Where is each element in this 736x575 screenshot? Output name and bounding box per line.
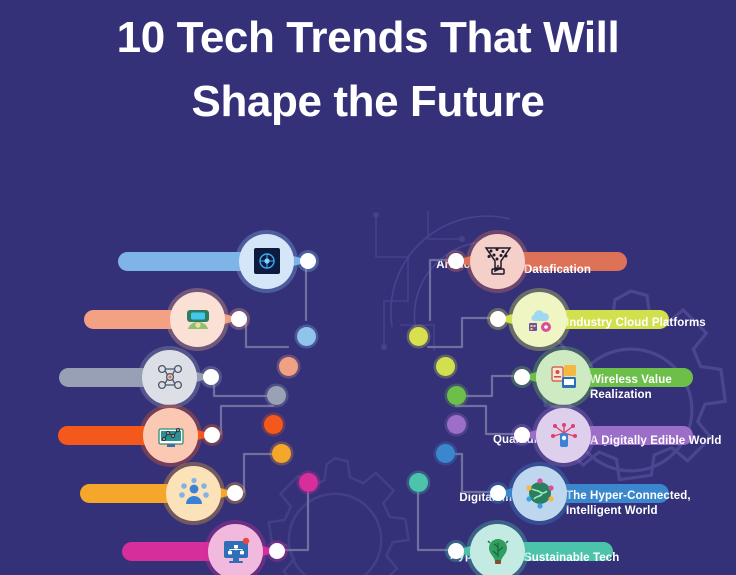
- trend-icon-disc[interactable]: [208, 524, 263, 575]
- trend-knob: [204, 427, 220, 443]
- trend-row-left-3[interactable]: [59, 348, 219, 406]
- trend-icon-disc[interactable]: [142, 350, 197, 405]
- trend-icon-disc[interactable]: [470, 234, 525, 289]
- cloud-platform-icon: [524, 303, 556, 335]
- trend-knob: [490, 485, 506, 501]
- trend-icon-disc[interactable]: [512, 466, 567, 521]
- page-title: 10 Tech Trends That Will Shape the Futur…: [0, 6, 736, 134]
- trend-knob: [231, 311, 247, 327]
- datafication-funnel-icon: [482, 245, 514, 277]
- trend-row-left-1[interactable]: [118, 232, 316, 290]
- digital-edible-icon: [548, 419, 580, 451]
- quantum-computer-icon: [155, 419, 187, 451]
- trend-icon-disc[interactable]: [170, 292, 225, 347]
- dot-connected: [436, 444, 455, 463]
- trend-row-left-4[interactable]: [58, 406, 220, 464]
- sustainable-recycle-icon: [482, 535, 514, 567]
- trend-knob: [227, 485, 243, 501]
- trend-label-right-3: Wireless Value Realization: [590, 373, 672, 402]
- dot-blockchain: [267, 386, 286, 405]
- trend-row-left-2[interactable]: [84, 290, 247, 348]
- trend-label-right-2: Industry Cloud Platforms: [566, 316, 706, 331]
- page-title-line2: Shape the Future: [46, 70, 690, 134]
- dot-cloud: [436, 357, 455, 376]
- trend-label-right-1: Datafication: [524, 263, 591, 278]
- trend-row-left-6[interactable]: [122, 522, 285, 575]
- trend-knob: [203, 369, 219, 385]
- blockchain-nodes-icon: [154, 361, 186, 393]
- dot-immune: [272, 444, 291, 463]
- automation-monitor-icon: [220, 535, 252, 567]
- trend-knob: [490, 311, 506, 327]
- dot-quantum: [264, 415, 283, 434]
- immune-users-icon: [178, 477, 210, 509]
- trend-icon-disc[interactable]: [512, 292, 567, 347]
- trend-icon-disc[interactable]: [143, 408, 198, 463]
- trend-icon-disc[interactable]: [470, 524, 525, 575]
- trend-label-right-5: The Hyper-Connected, Intelligent World: [566, 489, 691, 518]
- vr-headset-icon: [182, 303, 214, 335]
- trend-icon-disc[interactable]: [536, 408, 591, 463]
- ai-chip-icon: [251, 245, 283, 277]
- trend-bar: [118, 252, 249, 271]
- trend-row-right-6[interactable]: [448, 522, 613, 575]
- dot-wireless: [447, 386, 466, 405]
- trend-label-right-6: Sustainable Tech: [524, 551, 619, 566]
- dot-ai: [297, 327, 316, 346]
- trend-row-left-5[interactable]: [80, 464, 243, 522]
- trend-knob: [269, 543, 285, 559]
- trend-knob: [514, 369, 530, 385]
- dot-edible: [447, 415, 466, 434]
- dot-datafication: [409, 327, 428, 346]
- trend-icon-disc[interactable]: [239, 234, 294, 289]
- trend-knob: [448, 543, 464, 559]
- trend-row-right-1[interactable]: [448, 232, 627, 290]
- connected-globe-icon: [524, 477, 556, 509]
- trend-icon-disc[interactable]: [536, 350, 591, 405]
- dot-metaverse: [279, 357, 298, 376]
- trend-label-right-4: A Digitally Edible World: [590, 434, 721, 449]
- trend-icon-disc[interactable]: [166, 466, 221, 521]
- trend-knob: [300, 253, 316, 269]
- infographic-canvas: 10 Tech Trends That Will Shape the Futur…: [0, 0, 736, 575]
- trend-knob: [514, 427, 530, 443]
- dot-hyper: [299, 473, 318, 492]
- dot-sustainable: [409, 473, 428, 492]
- page-title-line1: 10 Tech Trends That Will: [46, 6, 690, 70]
- wireless-devices-icon: [548, 361, 580, 393]
- trend-knob: [448, 253, 464, 269]
